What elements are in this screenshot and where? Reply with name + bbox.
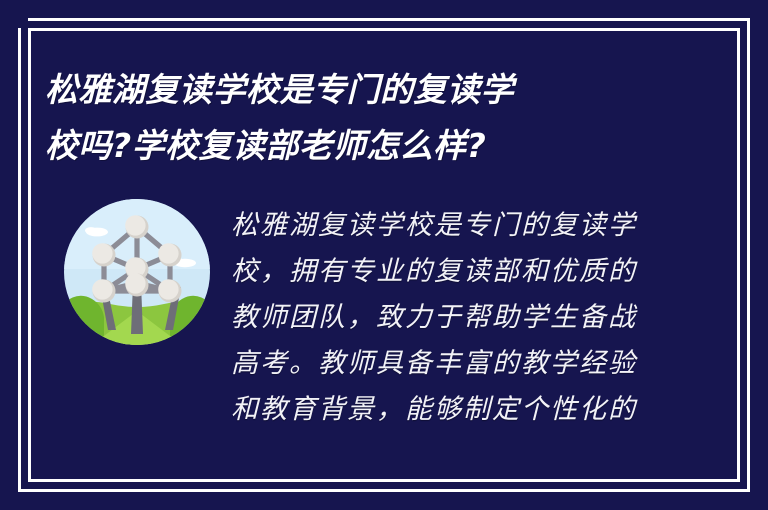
body-line-4: 高考。教师具备丰富的教学经验 [231, 341, 651, 387]
body-line-5: 和教育背景，能够制定个性化的 [231, 387, 651, 433]
page-title: 松雅湖复读学校是专门的复读学 校吗?学校复读部老师怎么样? [45, 62, 645, 174]
body-line-2: 校，拥有专业的复读部和优质的 [231, 249, 651, 295]
title-line-1: 松雅湖复读学校是专门的复读学 [45, 62, 645, 118]
body-line-3: 教师团队，致力于帮助学生备战 [231, 295, 651, 341]
frame-corner-mask-topleft [0, 0, 28, 28]
body-line-1: 松雅湖复读学校是专门的复读学 [231, 203, 651, 249]
body-paragraph: 松雅湖复读学校是专门的复读学 校，拥有专业的复读部和优质的 教师团队，致力于帮助… [231, 203, 651, 433]
frame-corner-mask-bottomright [750, 492, 768, 510]
atomium-landmark-icon [64, 199, 210, 345]
poster-canvas: 松雅湖复读学校是专门的复读学 校吗?学校复读部老师怎么样? [0, 0, 768, 510]
title-line-2: 校吗?学校复读部老师怎么样? [45, 118, 645, 174]
